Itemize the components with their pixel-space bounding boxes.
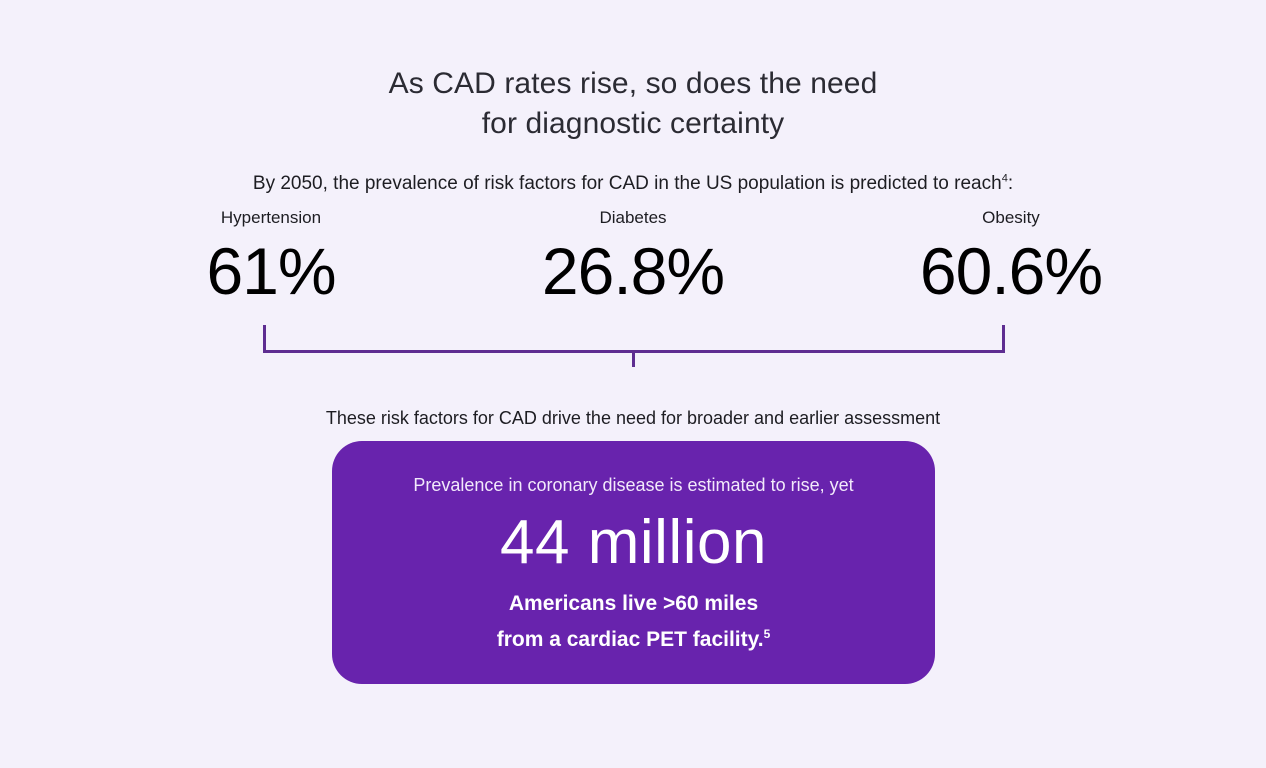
page-title: As CAD rates rise, so does the need for … (0, 64, 1266, 144)
infographic-page: As CAD rates rise, so does the need for … (0, 0, 1266, 768)
card-figure: 44 million (362, 506, 905, 580)
stat-obesity: Obesity 60.6% (851, 206, 1171, 310)
highlight-card: Prevalence in coronary disease is estima… (332, 441, 935, 684)
page-title-line-1: As CAD rates rise, so does the need (0, 64, 1266, 104)
page-title-line-2: for diagnostic certainty (0, 104, 1266, 144)
stat-diabetes: Diabetes 26.8% (473, 206, 793, 310)
risk-factor-stats: Hypertension 61% Diabetes 26.8% Obesity … (0, 206, 1266, 316)
bracket-caption: These risk factors for CAD drive the nee… (0, 405, 1266, 431)
subtitle-suffix: : (1008, 173, 1013, 194)
card-detail-line-1: Americans live >60 miles (362, 586, 905, 622)
card-detail: Americans live >60 miles from a cardiac … (362, 586, 905, 658)
card-intro-text: Prevalence in coronary disease is estima… (362, 472, 905, 498)
stat-value: 26.8% (473, 232, 793, 310)
stat-label: Diabetes (473, 206, 793, 230)
card-detail-line-2: from a cardiac PET facility.5 (362, 622, 905, 658)
subtitle-text: By 2050, the prevalence of risk factors … (253, 173, 1002, 194)
stat-label: Hypertension (111, 206, 431, 230)
stat-hypertension: Hypertension 61% (111, 206, 431, 310)
stat-label: Obesity (851, 206, 1171, 230)
card-reference-marker: 5 (764, 627, 771, 641)
stat-value: 60.6% (851, 232, 1171, 310)
bracket-connector-icon (255, 318, 1015, 374)
subtitle: By 2050, the prevalence of risk factors … (0, 171, 1266, 197)
card-detail-line-2-text: from a cardiac PET facility. (497, 628, 764, 651)
stat-value: 61% (111, 232, 431, 310)
